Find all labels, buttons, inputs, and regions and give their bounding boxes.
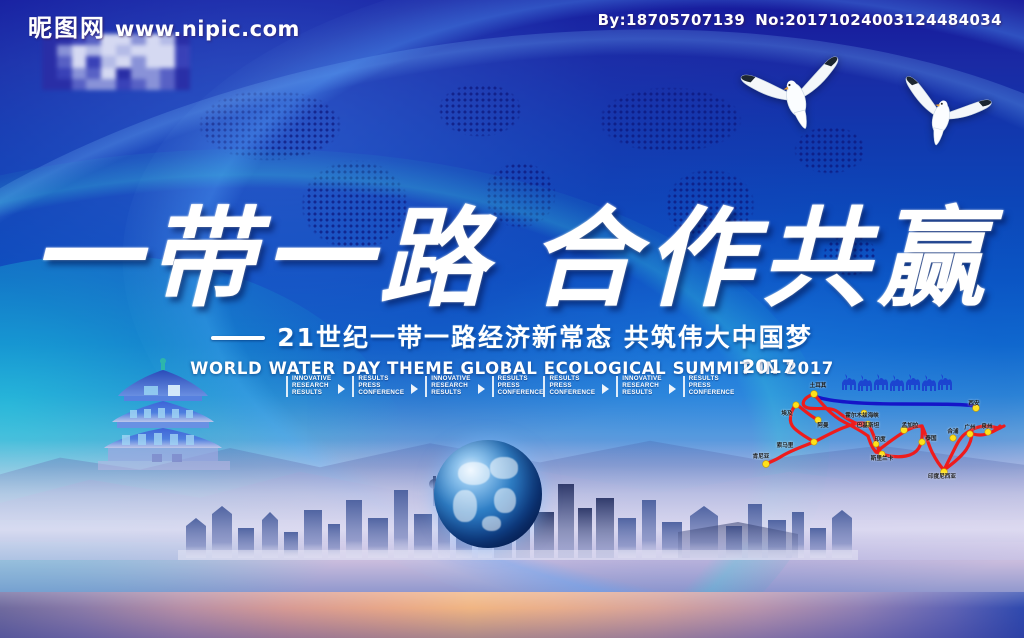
- mosaic-cell: [131, 68, 146, 79]
- keyword-chip-line: CONFERENCE: [549, 390, 595, 397]
- camel-caravan-icon: [838, 370, 956, 396]
- map-city-label: 巴基斯坦: [857, 421, 879, 429]
- mosaic-cell: [101, 79, 116, 90]
- mosaic-cell: [57, 79, 72, 90]
- poster-canvas: 一带一路合作共赢 21世纪一带一路经济新常态 共筑伟大中国梦 WORLD WAT…: [0, 0, 1024, 638]
- mosaic-cell: [101, 68, 116, 79]
- map-city-label: 阿曼: [817, 421, 828, 429]
- map-city-label: 泉州: [981, 422, 992, 430]
- mosaic-cell: [42, 56, 57, 67]
- keyword-chip: RESULTSPRESSCONFERENCE: [352, 376, 404, 397]
- mosaic-cell: [42, 45, 57, 56]
- mosaic-cell: [175, 45, 190, 56]
- keyword-chip-line: CONFERENCE: [498, 390, 544, 397]
- site-name-cn: 昵图网: [28, 8, 106, 43]
- globe-landmass: [453, 490, 477, 522]
- mosaic-cell: [146, 68, 161, 79]
- chip-arrow-icon: [669, 384, 676, 394]
- silk-road-route-map: 土耳其埃及阿曼索马里肯尼亚霍尔木兹海峡巴基斯坦印度斯里兰卡孟加拉泰国印度尼西亚合…: [752, 368, 1024, 490]
- mosaic-cell: [160, 56, 175, 67]
- map-city-label: 土耳其: [810, 381, 827, 389]
- subtitle-dash: [211, 336, 265, 340]
- seagull-icon: [888, 72, 996, 156]
- mosaic-cell: [146, 79, 161, 90]
- mosaic-cell: [72, 56, 87, 67]
- mosaic-cell: [175, 68, 190, 79]
- keyword-chip-line: CONFERENCE: [689, 390, 735, 397]
- map-city-label: 孟加拉: [902, 421, 919, 429]
- mosaic-cell: [86, 79, 101, 90]
- temple-of-heaven-icon: [84, 358, 244, 470]
- mosaic-cell: [86, 45, 101, 56]
- map-city-label: 索马里: [777, 441, 794, 449]
- mosaic-cell: [86, 56, 101, 67]
- mosaic-cell: [42, 79, 57, 90]
- mosaic-cell: [101, 45, 116, 56]
- site-watermark: 昵图网 www.nipic.com: [28, 8, 300, 43]
- keyword-chip-line: RESULTS: [622, 390, 661, 397]
- mosaic-cell: [86, 68, 101, 79]
- mosaic-cell: [131, 79, 146, 90]
- map-city-label: 印度尼西亚: [928, 472, 956, 480]
- map-city-label: 广州: [964, 423, 975, 431]
- mosaic-cell: [57, 45, 72, 56]
- mosaic-cell: [116, 79, 131, 90]
- keyword-chip-line: CONFERENCE: [358, 390, 404, 397]
- mosaic-cell: [175, 56, 190, 67]
- mosaic-cell: [116, 45, 131, 56]
- credit-watermark: By:18705707139 No:20171024003124484034: [598, 11, 1002, 29]
- keyword-chip: INNOVATIVERESEARCHRESULTS: [286, 376, 331, 397]
- mosaic-cell: [146, 56, 161, 67]
- mosaic-cell: [131, 45, 146, 56]
- keyword-chip: RESULTSPRESSCONFERENCE: [543, 376, 595, 397]
- map-city-label: 霍尔木兹海峡: [845, 411, 879, 419]
- poster-main-title: 一带一路合作共赢: [0, 172, 1024, 328]
- map-city-label: 合浦: [947, 427, 958, 435]
- year-badge: 2017: [742, 356, 795, 378]
- title-part-one: 一带一路: [31, 196, 495, 322]
- earth-globe-icon: [434, 440, 542, 548]
- mosaic-cell: [116, 68, 131, 79]
- subtitle-chinese: 21世纪一带一路经济新常态 共筑伟大中国梦: [277, 318, 813, 354]
- chip-arrow-icon: [478, 384, 485, 394]
- seagull-icon: [735, 50, 855, 140]
- map-city-label: 西安: [968, 399, 979, 407]
- mosaic-cell: [42, 68, 57, 79]
- keyword-chip-line: RESULTS: [431, 390, 470, 397]
- mosaic-cell: [72, 68, 87, 79]
- keyword-chip-line: RESULTS: [292, 390, 331, 397]
- mosaic-cell: [101, 56, 116, 67]
- mosaic-cell: [131, 56, 146, 67]
- keyword-chip: INNOVATIVERESEARCHRESULTS: [425, 376, 470, 397]
- globe-landmass: [482, 516, 501, 531]
- map-city-label: 泰国: [925, 434, 936, 442]
- mosaic-cell: [175, 79, 190, 90]
- mosaic-cell: [116, 56, 131, 67]
- globe-landmass: [490, 457, 518, 479]
- keyword-chip: RESULTSPRESSCONFERENCE: [492, 376, 544, 397]
- globe-landmass: [458, 462, 490, 486]
- mosaic-cell: [160, 68, 175, 79]
- keyword-chip: INNOVATIVERESEARCHRESULTS: [616, 376, 661, 397]
- map-city-label: 印度: [874, 435, 885, 443]
- title-part-two: 合作共赢: [529, 196, 993, 322]
- mosaic-cell: [72, 45, 87, 56]
- mosaic-cell: [146, 45, 161, 56]
- mosaic-cell: [57, 56, 72, 67]
- mosaic-cell: [160, 45, 175, 56]
- credit-no: No:20171024003124484034: [755, 11, 1002, 29]
- chip-arrow-icon: [338, 384, 345, 394]
- site-url: www.nipic.com: [115, 17, 300, 41]
- map-city-label: 埃及: [781, 409, 792, 417]
- chip-arrow-icon: [411, 384, 418, 394]
- credit-by: By:18705707139: [598, 11, 746, 29]
- map-city-label: 肯尼亚: [753, 452, 770, 460]
- map-city-label: 斯里兰卡: [871, 454, 893, 462]
- keyword-chip-row: INNOVATIVERESEARCHRESULTSRESULTSPRESSCON…: [286, 376, 726, 397]
- mosaic-cell: [72, 79, 87, 90]
- mosaic-cell: [57, 68, 72, 79]
- chip-arrow-icon: [602, 384, 609, 394]
- keyword-chip: RESULTSPRESSCONFERENCE: [683, 376, 735, 397]
- mosaic-cell: [160, 79, 175, 90]
- globe-landmass: [494, 488, 516, 514]
- bottom-watermark-bar: [0, 592, 1024, 638]
